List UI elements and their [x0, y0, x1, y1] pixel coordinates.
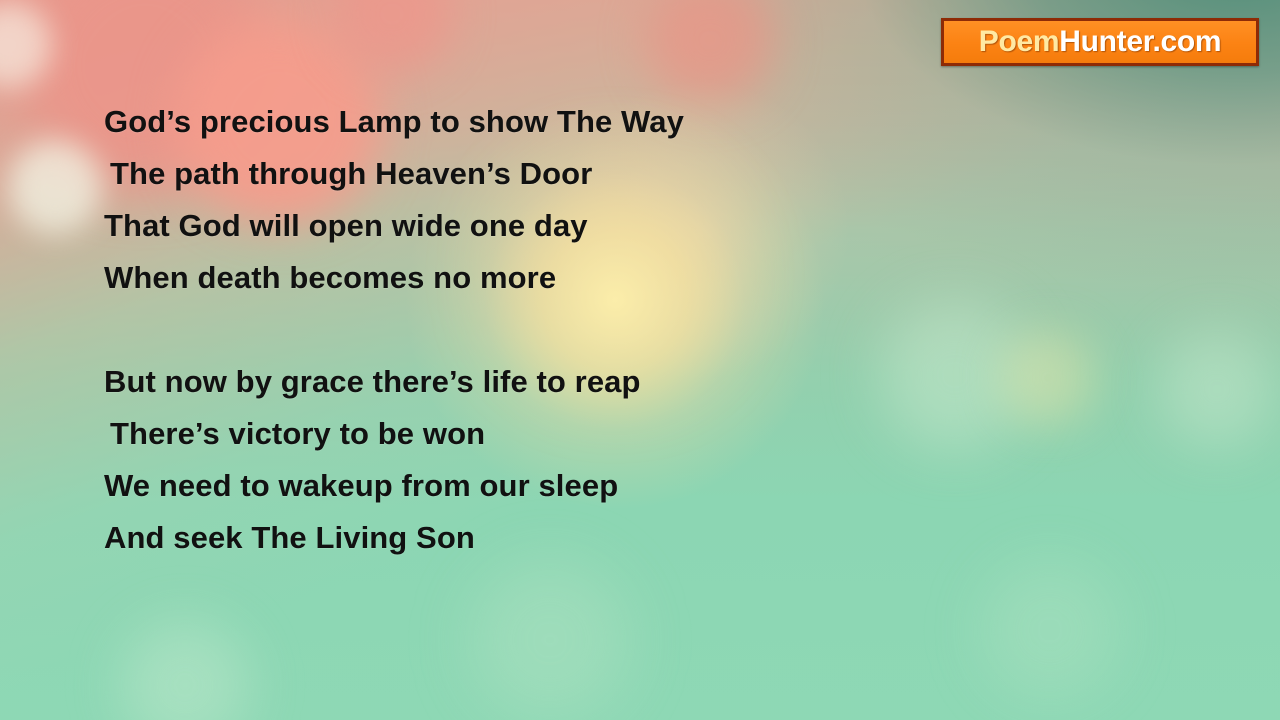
poemhunter-logo-text: PoemHunter.com — [979, 27, 1222, 57]
bokeh-pale-bottom-right — [980, 560, 1120, 700]
poem-line: The path through Heaven’s Door — [104, 148, 1104, 200]
poemhunter-logo[interactable]: PoemHunter.com — [941, 18, 1259, 66]
poem-line: When death becomes no more — [104, 252, 1104, 304]
poem-line: That God will open wide one day — [104, 200, 1104, 252]
poem-stanza-break — [104, 304, 1104, 356]
poem-card: God’s precious Lamp to show The WayThe p… — [0, 0, 1280, 720]
poem-line: There’s victory to be won — [104, 408, 1104, 460]
poem-line: We need to wakeup from our sleep — [104, 460, 1104, 512]
logo-word-poem: Poem — [979, 27, 1060, 57]
bokeh-cream-left-mid — [8, 140, 102, 234]
bokeh-pale-right-edge — [1158, 330, 1276, 448]
poem-line: And seek The Living Son — [104, 512, 1104, 564]
poem-line: God’s precious Lamp to show The Way — [104, 96, 1104, 148]
bokeh-pink-top-right-sm — [332, 0, 452, 74]
bokeh-cream-left-upper — [0, 2, 52, 88]
bokeh-pale-lower-left — [120, 620, 250, 720]
bokeh-pink-upper-right — [646, 0, 774, 104]
bokeh-pale-lower-center — [470, 560, 630, 720]
poem-text-block: God’s precious Lamp to show The WayThe p… — [104, 96, 1104, 564]
logo-word-hunter: Hunter.com — [1059, 27, 1221, 57]
poem-line: But now by grace there’s life to reap — [104, 356, 1104, 408]
